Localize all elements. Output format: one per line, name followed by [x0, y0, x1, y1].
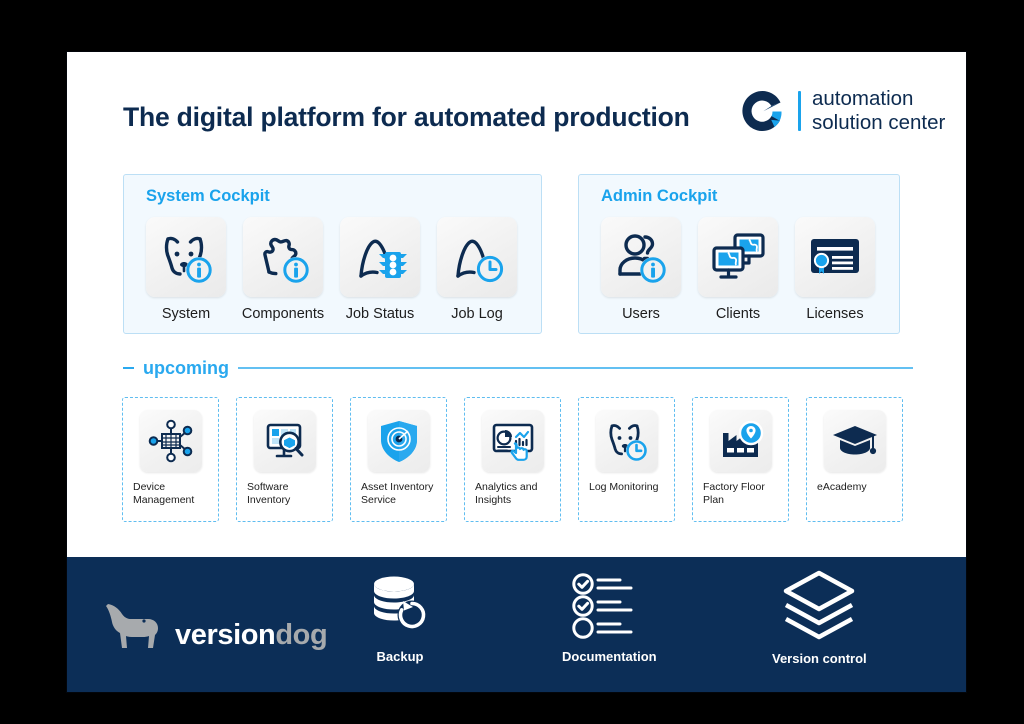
tile-label: Clients — [716, 306, 760, 322]
footer-bar: versiondog Backup — [67, 557, 966, 692]
certificate-icon — [804, 226, 866, 288]
upcoming-card-label: DeviceManagement — [123, 481, 194, 507]
tile-icon-box — [698, 217, 778, 297]
analytics-hand-icon — [489, 417, 537, 465]
upcoming-icon-box — [482, 410, 544, 472]
tile-icon-box — [601, 217, 681, 297]
logo-text: automation solution center — [812, 87, 945, 135]
curve-traffic-light-icon — [349, 226, 411, 288]
tile-job-log[interactable]: Job Log — [437, 217, 517, 322]
upcoming-card-label: SoftwareInventory — [237, 481, 290, 507]
footer-item-version-control[interactable]: Version control — [772, 569, 867, 666]
tile-label: Job Status — [346, 306, 415, 322]
versiondog-word-white: version — [175, 619, 275, 651]
logo-divider — [798, 91, 801, 131]
checklist-icon — [569, 573, 649, 639]
tile-label: System — [162, 306, 210, 322]
tile-icon-box — [340, 217, 420, 297]
database-refresh-icon — [367, 573, 433, 639]
upcoming-divider — [238, 367, 913, 369]
upcoming-icon-box — [368, 410, 430, 472]
upcoming-card-eacademy[interactable]: eAcademy — [806, 397, 903, 522]
upcoming-card-device-management[interactable]: DeviceManagement — [122, 397, 219, 522]
tile-label: Job Log — [451, 306, 503, 322]
content-card: The digital platform for automated produ… — [67, 52, 966, 692]
asc-c-logo-icon — [739, 87, 787, 135]
versiondog-dog-icon — [104, 598, 166, 654]
tile-label: Users — [622, 306, 660, 322]
tile-label: Components — [242, 306, 324, 322]
upcoming-card-analytics-and-insights[interactable]: Analytics andInsights — [464, 397, 561, 522]
tile-clients[interactable]: Clients — [698, 217, 778, 322]
upcoming-label: upcoming — [143, 358, 229, 379]
puzzle-info-icon — [252, 226, 314, 288]
shield-asset-icon — [375, 417, 423, 465]
upcoming-card-label: eAcademy — [807, 481, 867, 494]
upcoming-card-label: Asset InventoryService — [351, 481, 433, 507]
page-title: The digital platform for automated produ… — [123, 102, 690, 133]
upcoming-card-label: Analytics andInsights — [465, 481, 537, 507]
dog-clock-icon — [603, 417, 651, 465]
upcoming-card-list: DeviceManagement — [122, 397, 903, 522]
versiondog-logo: versiondog — [104, 598, 327, 654]
graduation-cap-icon — [831, 417, 879, 465]
versiondog-word-gray: dog — [275, 619, 327, 651]
upcoming-card-label: Factory FloorPlan — [693, 481, 765, 507]
brand-logo: automation solution center — [739, 87, 945, 135]
panel-title-admin: Admin Cockpit — [601, 187, 717, 206]
factory-pin-icon — [717, 417, 765, 465]
tile-components[interactable]: Components — [243, 217, 323, 322]
footer-item-documentation[interactable]: Documentation — [562, 573, 657, 664]
tile-licenses[interactable]: Licenses — [795, 217, 875, 322]
panel-admin-cockpit: Admin Cockpit — [578, 174, 900, 334]
tile-icon-box — [243, 217, 323, 297]
upcoming-icon-box — [824, 410, 886, 472]
upcoming-icon-box — [596, 410, 658, 472]
software-magnifier-icon — [261, 417, 309, 465]
monitors-icon — [707, 226, 769, 288]
upcoming-card-factory-floor-plan[interactable]: Factory FloorPlan — [692, 397, 789, 522]
tile-row-system: System Components — [146, 217, 517, 322]
tile-label: Licenses — [806, 306, 863, 322]
upcoming-section-header: upcoming — [123, 357, 913, 379]
screenshot-root: The digital platform for automated produ… — [0, 0, 1024, 724]
panel-title-system: System Cockpit — [146, 187, 270, 206]
footer-item-backup[interactable]: Backup — [367, 573, 433, 664]
tile-icon-box — [795, 217, 875, 297]
upcoming-card-label: Log Monitoring — [579, 481, 658, 494]
tile-icon-box — [437, 217, 517, 297]
versiondog-wordmark: versiondog — [175, 621, 327, 654]
tile-job-status[interactable]: Job Status — [340, 217, 420, 322]
dog-info-icon — [155, 226, 217, 288]
tile-row-admin: Users — [601, 217, 875, 322]
upcoming-icon-box — [140, 410, 202, 472]
upcoming-card-asset-inventory-service[interactable]: Asset InventoryService — [350, 397, 447, 522]
upcoming-dash-icon — [123, 367, 134, 369]
footer-item-label: Backup — [377, 649, 424, 664]
upcoming-card-software-inventory[interactable]: SoftwareInventory — [236, 397, 333, 522]
upcoming-icon-box — [254, 410, 316, 472]
curve-clock-icon — [446, 226, 508, 288]
layers-icon — [778, 569, 860, 641]
device-network-icon — [147, 417, 195, 465]
tile-system[interactable]: System — [146, 217, 226, 322]
logo-line-2: solution center — [812, 111, 945, 135]
tile-icon-box — [146, 217, 226, 297]
upcoming-icon-box — [710, 410, 772, 472]
logo-line-1: automation — [812, 87, 945, 111]
panel-system-cockpit: System Cockpit — [123, 174, 542, 334]
users-info-icon — [610, 226, 672, 288]
footer-item-label: Documentation — [562, 649, 657, 664]
upcoming-card-log-monitoring[interactable]: Log Monitoring — [578, 397, 675, 522]
footer-item-label: Version control — [772, 651, 867, 666]
tile-users[interactable]: Users — [601, 217, 681, 322]
